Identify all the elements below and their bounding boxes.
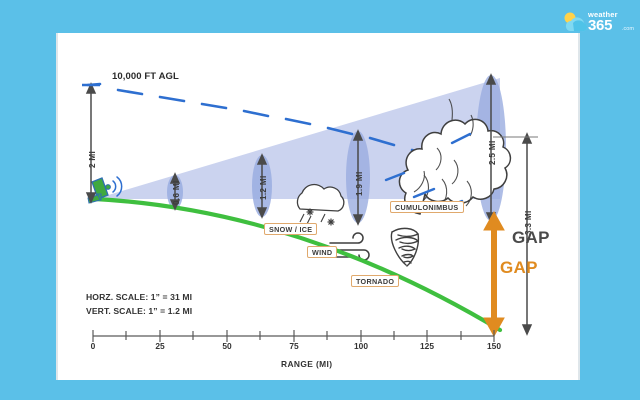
tornado-icon	[391, 228, 418, 266]
measure-label-1-9mi: 1.9 MI	[355, 171, 364, 196]
axis-tick-150: 150	[487, 341, 501, 351]
logo-tld: .com	[622, 26, 634, 32]
axis-title: RANGE (MI)	[281, 359, 332, 369]
weather365-logo[interactable]: weather 365 .com	[560, 10, 634, 38]
vertical-scale-label: VERT. SCALE: 1” = 1.2 MI	[86, 306, 192, 316]
agl-label: 10,000 FT AGL	[112, 71, 179, 82]
measure-label-1-2mi: 1.2 MI	[259, 175, 268, 200]
callout-wind: WIND	[307, 246, 337, 258]
logo-text: weather 365	[588, 11, 618, 33]
axis-tick-25: 25	[155, 341, 164, 351]
sun-cloud-icon	[560, 10, 588, 34]
gap-label-orange: GAP	[500, 258, 538, 278]
diagram-artwork	[0, 0, 640, 400]
measure-label-2-5mi: 2.5 MI	[488, 140, 497, 165]
radar-diagram-screenshot: 10,000 FT AGL HORZ. SCALE: 1” = 31 MI VE…	[0, 0, 640, 400]
measure-label-2mi: 2 MI	[88, 151, 97, 168]
axis-tick-125: 125	[420, 341, 434, 351]
callout-snow-ice: SNOW / ICE	[264, 223, 317, 235]
axis-tick-75: 75	[289, 341, 298, 351]
logo-number: 365	[588, 18, 618, 33]
snow-cloud-icon	[297, 185, 343, 211]
measure-label-0-6mi: 0.6 MI	[172, 180, 181, 205]
axis-tick-0: 0	[91, 341, 96, 351]
axis-tick-50: 50	[222, 341, 231, 351]
callout-cumulonimbus: CUMULONIMBUS	[390, 201, 464, 213]
gap-label-dark: GAP	[512, 228, 550, 248]
callout-tornado: TORNADO	[351, 275, 399, 287]
axis-tick-100: 100	[354, 341, 368, 351]
horizontal-scale-label: HORZ. SCALE: 1” = 31 MI	[86, 292, 192, 302]
